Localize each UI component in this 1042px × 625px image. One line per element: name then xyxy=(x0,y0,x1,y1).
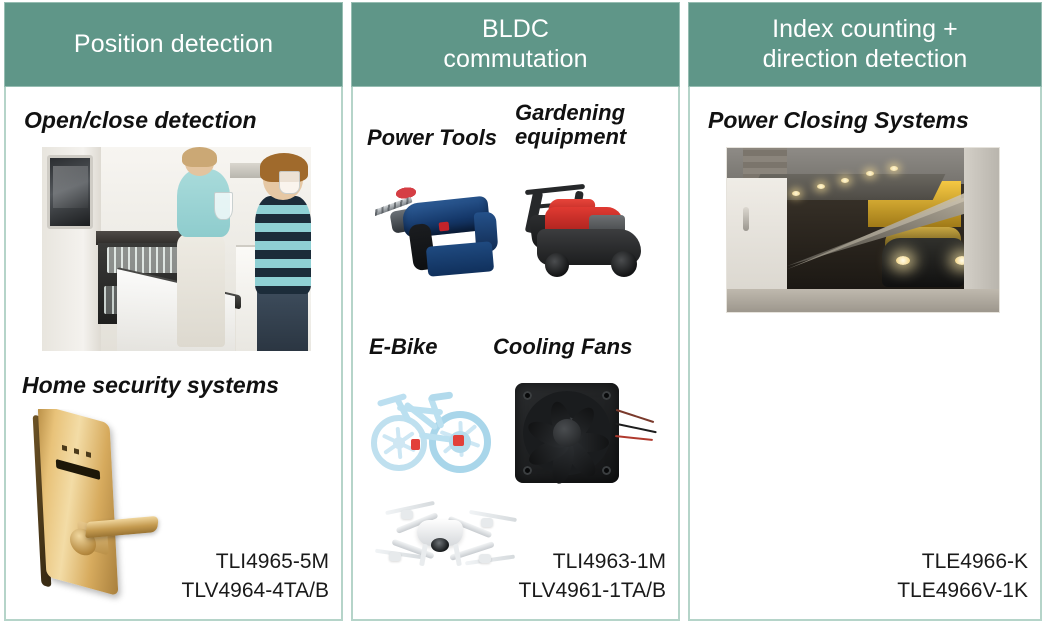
caption-cooling-fans: Cooling Fans xyxy=(493,334,632,360)
column-position-detection: Position detection Open/close detection xyxy=(4,2,343,621)
column-1-body: Open/close detection xyxy=(4,87,343,621)
e-bike-illustration xyxy=(367,377,497,482)
column-1-header-label: Position detection xyxy=(74,30,273,60)
column-3-header: Index counting + direction detection xyxy=(688,2,1042,87)
caption-power-tools: Power Tools xyxy=(367,125,497,151)
kitchen-dishwasher-photo xyxy=(42,147,311,351)
garage-door-photo xyxy=(726,147,1000,313)
column-3-body: Power Closing Systems xyxy=(688,87,1042,621)
part-number: TLI4965-5M xyxy=(182,548,329,576)
column-1-part-numbers: TLI4965-5M TLV4964-4TA/B xyxy=(182,548,329,605)
part-number: TLE4966V-1K xyxy=(897,577,1028,605)
caption-gardening-equipment: Gardening equipment xyxy=(515,101,665,149)
caption-open-close-detection: Open/close detection xyxy=(24,107,257,134)
part-number: TLE4966-K xyxy=(897,548,1028,576)
column-bldc-commutation: BLDC commutation Power Tools Gardening e… xyxy=(351,2,680,621)
column-2-header: BLDC commutation xyxy=(351,2,680,87)
part-number: TLV4964-4TA/B xyxy=(182,577,329,605)
door-lock-photo xyxy=(28,409,178,609)
axial-cooling-fan-photo xyxy=(503,375,663,491)
caption-home-security-systems: Home security systems xyxy=(22,372,279,399)
caption-e-bike: E-Bike xyxy=(369,334,437,360)
column-2-body: Power Tools Gardening equipment xyxy=(351,87,680,621)
column-2-part-numbers: TLI4963-1M TLV4961-1TA/B xyxy=(519,548,666,605)
lawn-mower-photo xyxy=(515,179,665,285)
product-application-board: Position detection Open/close detection xyxy=(0,0,1042,625)
column-3-header-line2: direction detection xyxy=(763,45,968,75)
cordless-hammer-drill-photo xyxy=(375,182,515,282)
quadcopter-drone-photo xyxy=(369,492,539,582)
part-number: TLI4963-1M xyxy=(519,548,666,576)
column-3-header-line1: Index counting + xyxy=(763,15,968,45)
column-2-header-line1: BLDC xyxy=(443,15,587,45)
column-2-header-line2: commutation xyxy=(443,45,587,75)
caption-power-closing-systems: Power Closing Systems xyxy=(708,107,969,134)
column-3-part-numbers: TLE4966-K TLE4966V-1K xyxy=(897,548,1028,605)
column-1-header: Position detection xyxy=(4,2,343,87)
part-number: TLV4961-1TA/B xyxy=(519,577,666,605)
column-index-counting: Index counting + direction detection Pow… xyxy=(688,2,1042,621)
